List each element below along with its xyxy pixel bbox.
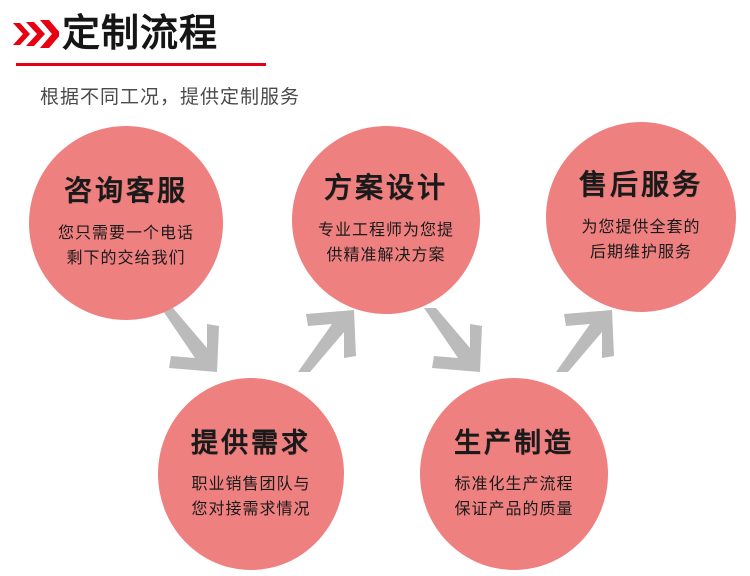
flow-node-description-line: 职业销售团队与 (191, 472, 310, 497)
flow-node-description-line: 保证产品的质量 (454, 497, 573, 522)
flow-node-plan-design[interactable]: 方案设计 专业工程师为您提 供精准解决方案 (292, 126, 480, 314)
flow-node-description-line: 专业工程师为您提 (318, 218, 454, 243)
flow-node-description: 标准化生产流程 保证产品的质量 (454, 472, 573, 522)
arrow-down-right-icon (155, 306, 227, 378)
flow-node-title: 售后服务 (579, 169, 703, 203)
flow-node-description: 您只需要一个电话 剩下的交给我们 (58, 221, 194, 271)
custom-process-flow-diagram: 咨询客服 您只需要一个电话 剩下的交给我们 方案设计 专业工程师为您提 供精准解… (0, 0, 750, 576)
flow-node-provide-requirements[interactable]: 提供需求 职业销售团队与 您对接需求情况 (158, 378, 344, 570)
flow-node-description-line: 剩下的交给我们 (58, 246, 194, 271)
flow-node-title: 咨询客服 (64, 175, 188, 209)
flow-node-title: 方案设计 (324, 172, 448, 206)
arrow-up-right-icon (292, 304, 364, 376)
flow-node-description-line: 您对接需求情况 (191, 497, 310, 522)
arrow-up-right-icon (550, 304, 622, 376)
flow-node-description-line: 标准化生产流程 (454, 472, 573, 497)
flow-node-description: 专业工程师为您提 供精准解决方案 (318, 218, 454, 268)
flow-node-description: 职业销售团队与 您对接需求情况 (191, 472, 310, 522)
flow-node-description-line: 供精准解决方案 (318, 243, 454, 268)
flow-node-description-line: 您只需要一个电话 (58, 221, 194, 246)
flow-node-title: 提供需求 (191, 426, 311, 460)
flow-node-description-line: 为您提供全套的 (581, 215, 700, 240)
flow-node-title: 生产制造 (454, 426, 574, 460)
flow-node-description-line: 后期维护服务 (581, 240, 700, 265)
arrow-down-right-icon (418, 306, 490, 378)
flow-node-consult-service[interactable]: 咨询客服 您只需要一个电话 剩下的交给我们 (29, 126, 223, 320)
flow-node-after-sales-service[interactable]: 售后服务 为您提供全套的 后期维护服务 (546, 122, 736, 312)
flow-node-production-manufacturing[interactable]: 生产制造 标准化生产流程 保证产品的质量 (420, 378, 608, 570)
flow-node-description: 为您提供全套的 后期维护服务 (581, 215, 700, 265)
